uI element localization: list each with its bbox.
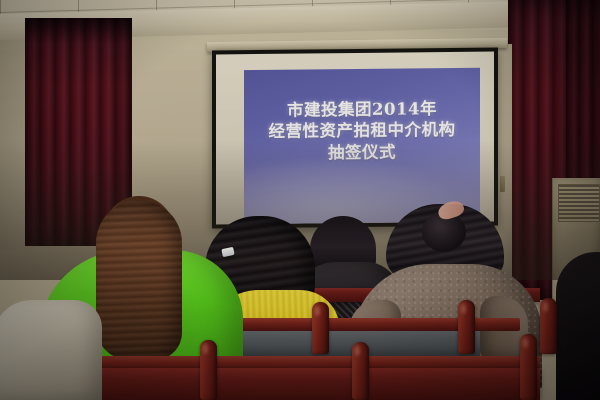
- curtain-left-shadow: [25, 18, 132, 44]
- bench-post-2d: [540, 298, 557, 354]
- bench-post-1d: [520, 334, 537, 400]
- bench-post-1b: [200, 340, 217, 400]
- bench-post-2b: [312, 302, 329, 354]
- slide-line-1: 市建投集团2014年: [244, 98, 480, 122]
- bench-post-2c: [458, 300, 475, 354]
- green-woman-hair: [96, 200, 182, 360]
- light-cloth-foreground: [0, 300, 102, 400]
- bench-post-1c: [352, 342, 369, 400]
- conference-room-photo: 市建投集团2014年 经营性资产拍租中介机构 抽签仪式: [0, 0, 600, 400]
- audience-dark-silhouette-right: [556, 252, 600, 400]
